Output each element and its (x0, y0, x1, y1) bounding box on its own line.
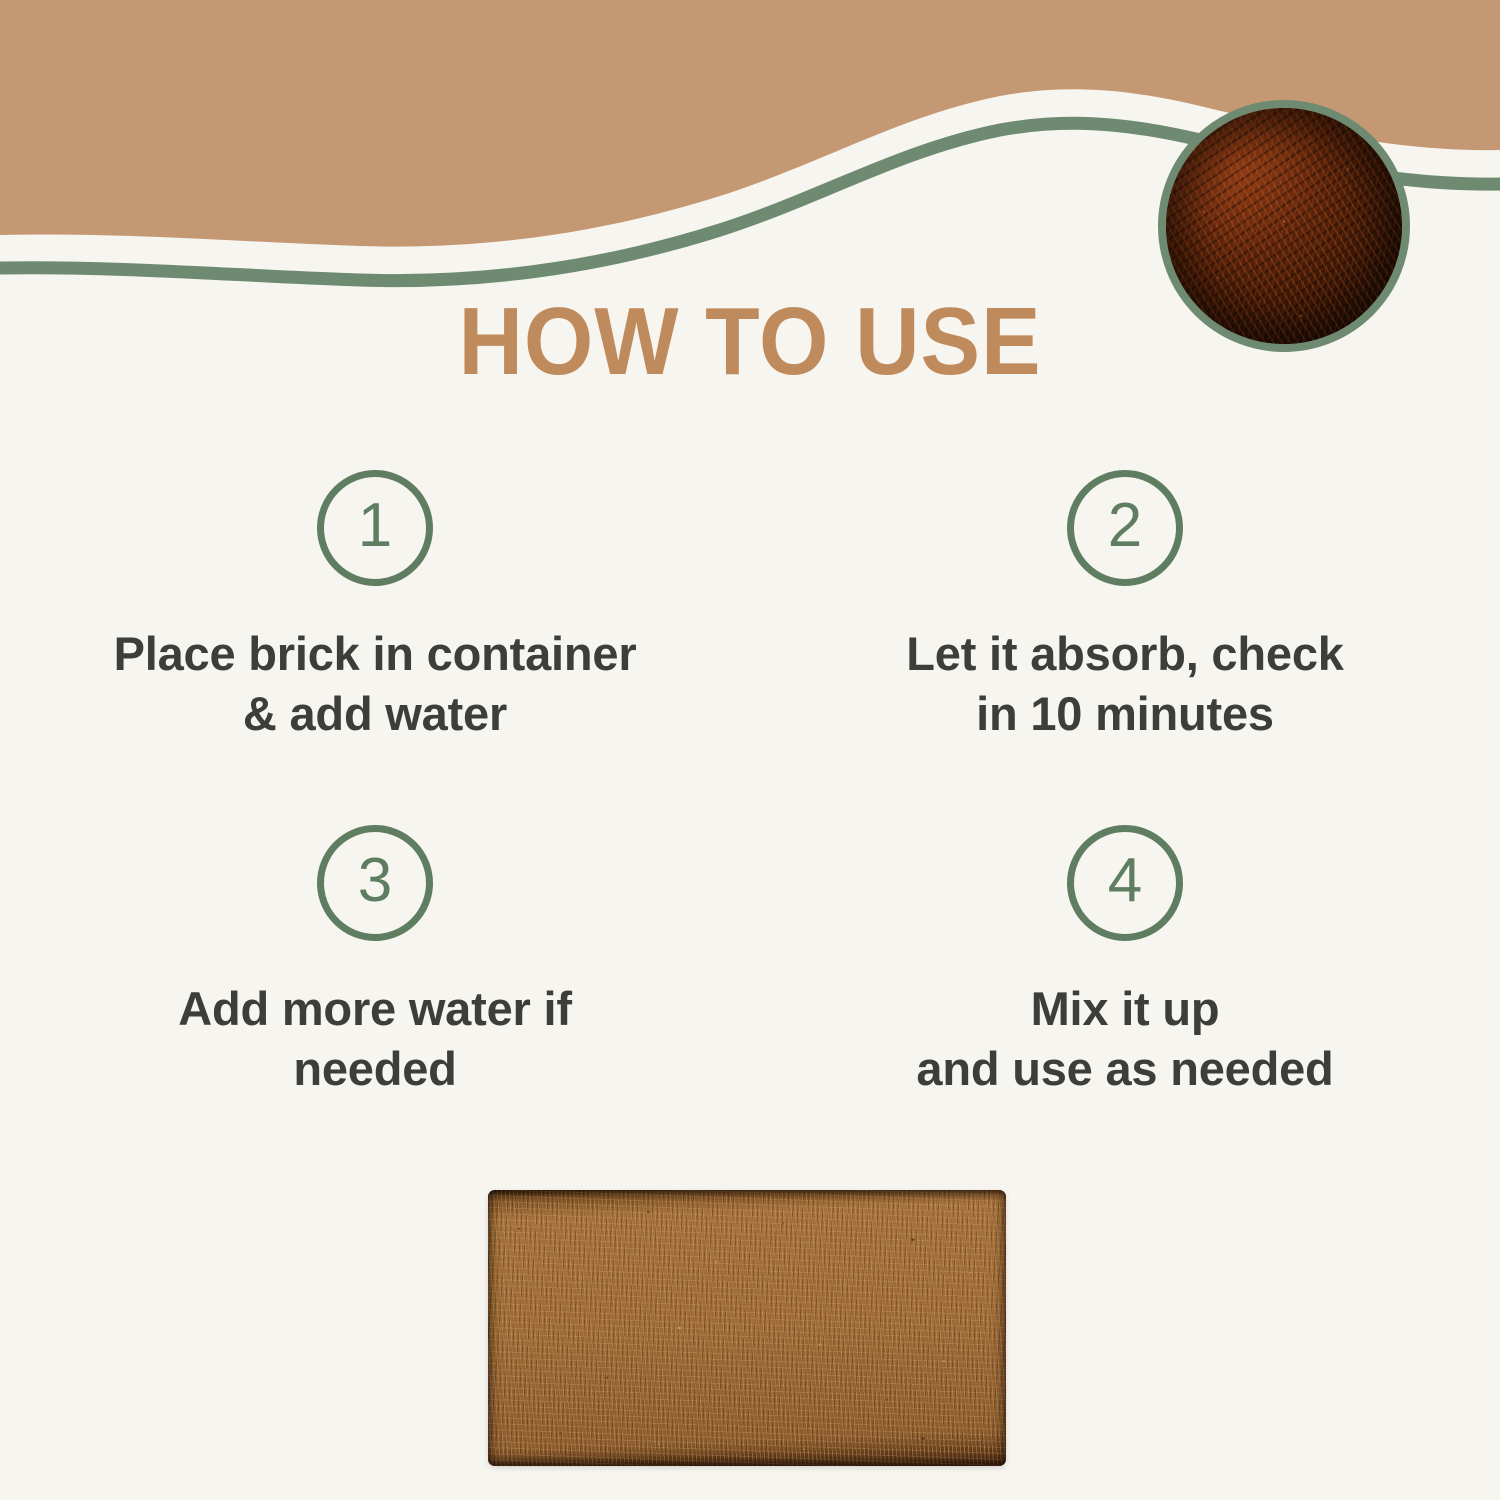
how-to-use-infographic: HOW TO USE 1 Place brick in container & … (0, 0, 1500, 1500)
page-title: HOW TO USE (53, 294, 1448, 390)
step-number-badge-3: 3 (317, 825, 433, 941)
step-label-3: Add more water if needed (178, 979, 572, 1099)
step-item-3: 3 Add more water if needed (0, 825, 750, 1180)
step-number-badge-4: 4 (1067, 825, 1183, 941)
step-number-badge-2: 2 (1067, 470, 1183, 586)
step-label-2: Let it absorb, check in 10 minutes (906, 624, 1343, 744)
step-label-4: Mix it up and use as needed (916, 979, 1333, 1099)
step-label-1: Place brick in container & add water (114, 624, 637, 744)
coco-coir-brick-image (488, 1190, 1006, 1466)
step-number-badge-1: 1 (317, 470, 433, 586)
brick-texture-edges (488, 1190, 1006, 1466)
step-item-4: 4 Mix it up and use as needed (750, 825, 1500, 1180)
step-item-1: 1 Place brick in container & add water (0, 470, 750, 825)
steps-grid: 1 Place brick in container & add water 2… (0, 470, 1500, 1180)
step-item-2: 2 Let it absorb, check in 10 minutes (750, 470, 1500, 825)
